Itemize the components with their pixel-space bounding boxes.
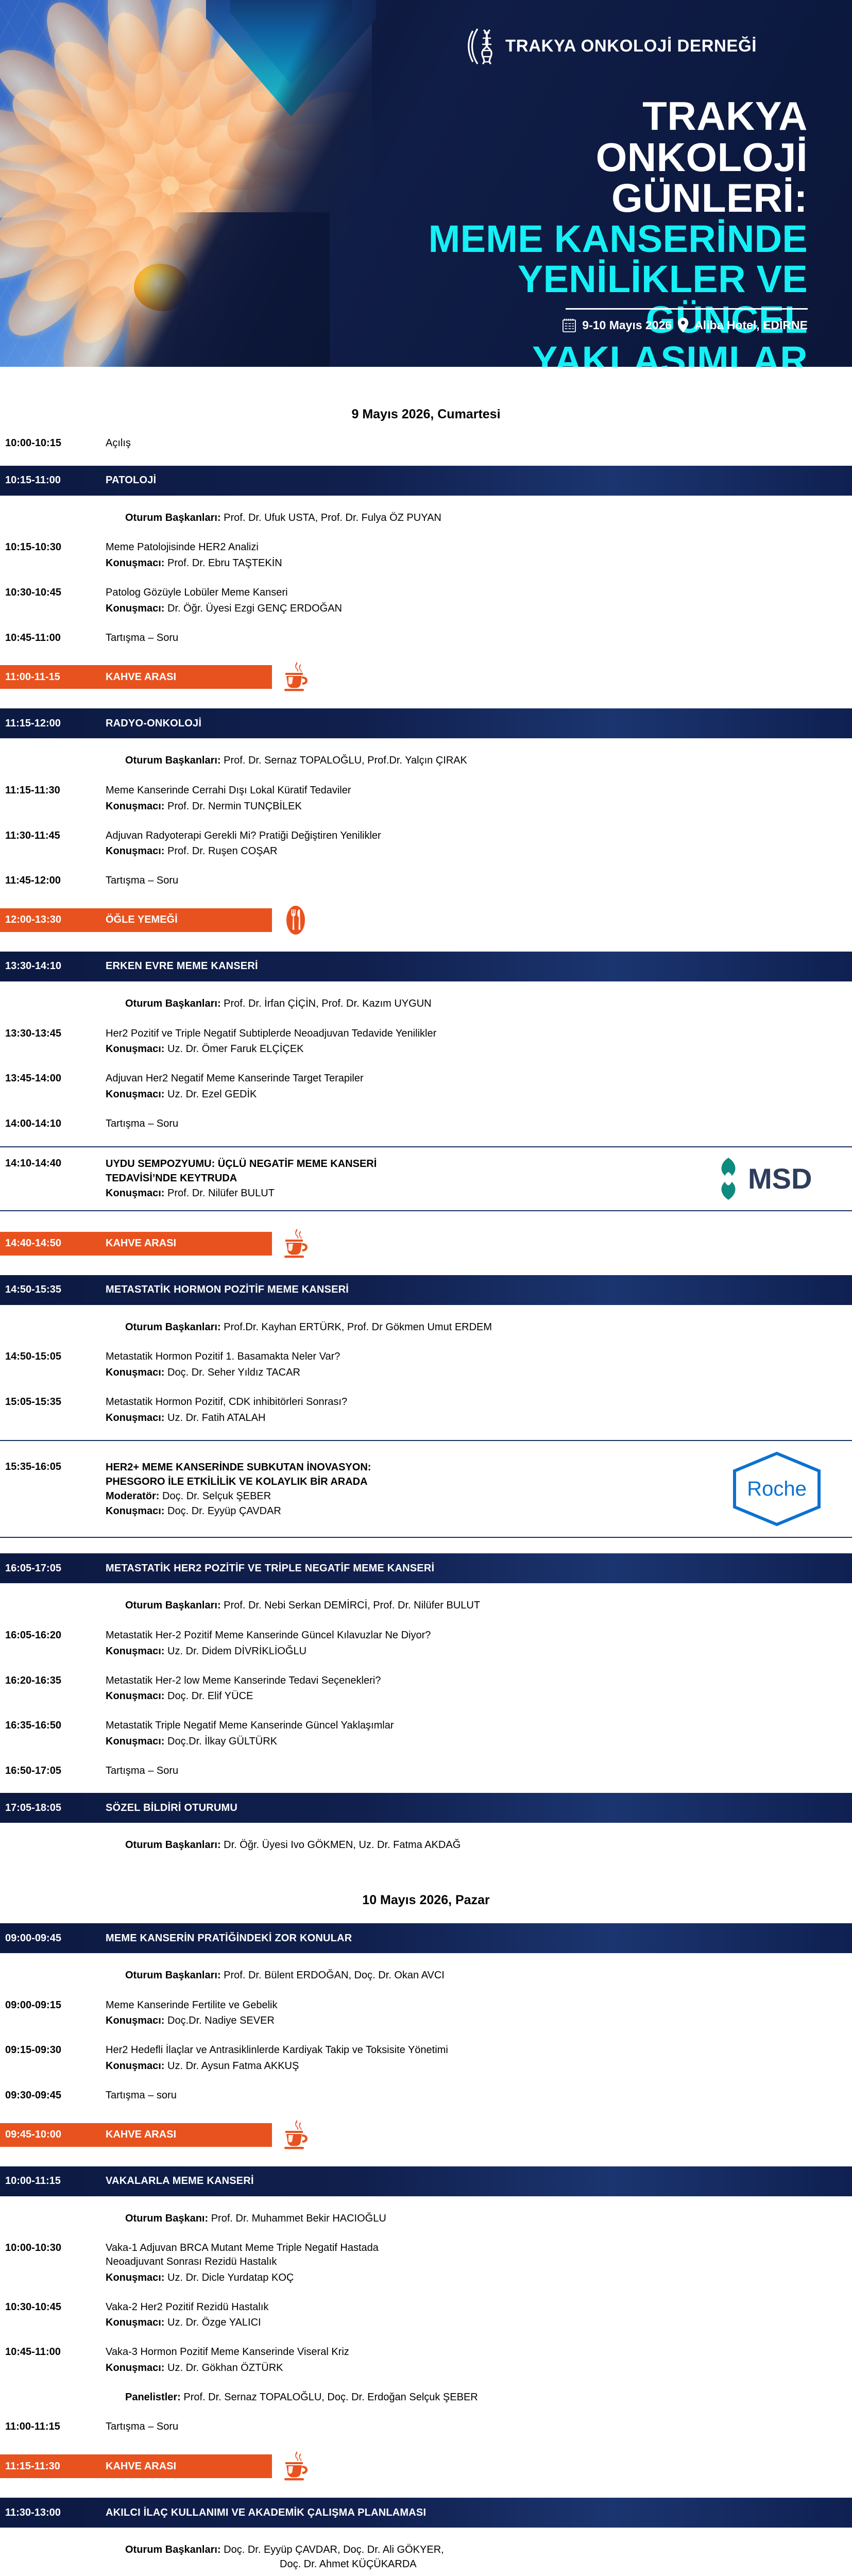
chairs-names: Prof. Dr. Ufuk USTA, Prof. Dr. Fulya ÖZ …: [224, 512, 441, 523]
session-name: PATOLOJİ: [106, 474, 156, 486]
event-venue: Aliba Hotel, EDİRNE: [694, 318, 808, 332]
time: 16:05-16:20: [0, 1629, 106, 1642]
chairs-label: Oturum Başkanları:: [125, 1839, 221, 1851]
topic: Metastatik Her-2 Pozitif Meme Kanserinde…: [106, 1629, 831, 1642]
break-bar-kahve-2: 14:40-14:50 KAHVE ARASI: [0, 1232, 272, 1256]
agenda-row: 11:45-12:00 Tartışma – Soru: [0, 874, 852, 888]
time: 10:30-10:45: [0, 2300, 106, 2314]
time: 14:50-15:05: [0, 1350, 106, 1364]
session-name: VAKALARLA MEME KANSERİ: [106, 2175, 254, 2187]
topic: Her2 Pozitif ve Triple Negatif Subtipler…: [106, 1027, 831, 1041]
session-name: SÖZEL BİLDİRİ OTURUMU: [106, 1802, 237, 1814]
time: 15:35-16:05: [0, 1460, 106, 1474]
role-label: Konuşmacı:: [106, 1505, 164, 1517]
session-header-zor-konular: 09:00-09:45 MEME KANSERİN PRATİĞİNDEKİ Z…: [0, 1923, 852, 1953]
session-chairs: Oturum Başkanları: Prof. Dr. Ufuk USTA, …: [0, 511, 852, 526]
title-line-4: YENİLİKLER VE: [391, 259, 808, 299]
speaker: Doç. Dr. Elif YÜCE: [167, 1690, 253, 1702]
speaker: Prof. Dr. Ruşen COŞAR: [167, 845, 277, 857]
session-header-patoloji: 10:15-11:00 PATOLOJİ: [0, 466, 852, 496]
agenda-row-opening: 10:00-10:15 Açılış: [0, 436, 852, 450]
chairs-names: Prof.Dr. Kayhan ERTÜRK, Prof. Dr Gökmen …: [224, 1321, 492, 1333]
speaker: Uz. Dr. Ömer Faruk ELÇİÇEK: [167, 1043, 304, 1055]
cutlery-icon: [281, 904, 310, 936]
speaker: Uz. Dr. Özge YALICI: [167, 2317, 261, 2328]
time: 10:45-11:00: [0, 2345, 106, 2359]
time: 16:35-16:50: [0, 1719, 106, 1733]
speaker: Prof. Dr. Nilüfer BULUT: [167, 1188, 275, 1199]
coffee-cup-icon: [281, 2450, 310, 2482]
msd-mark: [722, 1158, 736, 1200]
break-bar-kahve-4: 11:15-11:30 KAHVE ARASI: [0, 2454, 272, 2478]
session-header-vakalarla: 10:00-11:15 VAKALARLA MEME KANSERİ: [0, 2166, 852, 2196]
break-row: 14:40-14:50 KAHVE ARASI: [0, 1228, 852, 1260]
role-label: Konuşmacı:: [106, 801, 164, 812]
chairs-names-line-2: Doç. Dr. Ahmet KÜÇÜKARDA: [125, 2557, 852, 2572]
topic: Tartışma – Soru: [106, 631, 852, 645]
topic: Patolog Gözüyle Lobüler Meme Kanseri: [106, 586, 831, 600]
chairs-label: Oturum Başkanları:: [125, 998, 221, 1009]
time: 10:00-10:30: [0, 2241, 106, 2255]
session-panelists: Panelistler: Prof. Dr. Sernaz TOPALOĞLU,…: [0, 2391, 852, 2405]
chairs-label: Oturum Başkanları:: [125, 755, 221, 766]
role-label: Konuşmacı:: [106, 2060, 164, 2072]
break-time: 11:00-11-15: [0, 671, 106, 683]
speaker: Uz. Dr. Fatih ATALAH: [167, 1412, 265, 1423]
time: 14:10-14:40: [0, 1157, 106, 1171]
chairs-names: Prof. Dr. Sernaz TOPALOĞLU, Prof.Dr. Yal…: [224, 755, 467, 766]
role-label: Konuşmacı:: [106, 1089, 164, 1100]
speaker: Uz. Dr. Dicle Yurdatap KOÇ: [167, 2272, 294, 2283]
chairs-names: Prof. Dr. Nebi Serkan DEMİRCİ, Prof. Dr.…: [224, 1600, 480, 1611]
day2-title: 10 Mayıs 2026, Pazar: [0, 1893, 852, 1908]
banner-meta: 9-10 Mayıs 2026 Aliba Hotel, EDİRNE: [561, 317, 808, 333]
time: 10:00-10:15: [0, 436, 106, 450]
chairs-label: Oturum Başkanları:: [125, 1970, 221, 1981]
agenda-row: 10:00-10:30 Vaka-1 Adjuvan BRCA Mutant M…: [0, 2241, 852, 2284]
break-bar-kahve-3: 09:45-10:00 KAHVE ARASI: [0, 2123, 272, 2147]
speaker: Dr. Öğr. Üyesi Ezgi GENÇ ERDOĞAN: [167, 603, 342, 614]
chairs-names: Prof. Dr. Bülent ERDOĞAN, Doç. Dr. Okan …: [224, 1970, 445, 1981]
speaker: Doç.Dr. Nadiye SEVER: [167, 2015, 275, 2026]
session-time: 13:30-14:10: [0, 960, 106, 972]
role-label: Konuşmacı:: [106, 603, 164, 614]
session-chairs: Oturum Başkanları: Prof.Dr. Kayhan ERTÜR…: [0, 1320, 852, 1335]
symposium-title-line-2: PHESGORO İLE ETKİLİLİK VE KOLAYLIK BİR A…: [106, 1475, 371, 1489]
chairs-label: Oturum Başkanları:: [125, 2544, 221, 2555]
agenda-row: 13:30-13:45 Her2 Pozitif ve Triple Negat…: [0, 1027, 852, 1057]
role-label: Konuşmacı:: [106, 1188, 164, 1199]
location-pin-icon: [677, 317, 689, 333]
session-chairs: Oturum Başkanları: Prof. Dr. Nebi Serkan…: [0, 1599, 852, 1613]
break-time: 14:40-14:50: [0, 1238, 106, 1249]
break-time: 11:15-11:30: [0, 2461, 106, 2472]
role-label: Konuşmacı:: [106, 1690, 164, 1702]
role-label: Konuşmacı:: [106, 1412, 164, 1423]
session-time: 09:00-09:45: [0, 1933, 106, 1944]
session-name: ERKEN EVRE MEME KANSERİ: [106, 960, 258, 972]
calendar-icon: [561, 317, 577, 333]
speaker: Uz. Dr. Aysun Fatma AKKUŞ: [167, 2060, 299, 2072]
role-label: Konuşmacı:: [106, 2015, 164, 2026]
symposium-title-line-2: TEDAVİSİ’NDE KEYTRUDA: [106, 1171, 377, 1185]
session-header-metastatik-hormon: 14:50-15:35 METASTATİK HORMON POZİTİF ME…: [0, 1275, 852, 1305]
topic: Tartışma – Soru: [106, 874, 852, 888]
moderator: Doç. Dr. Selçuk ŞEBER: [162, 1490, 271, 1502]
time: 10:45-11:00: [0, 631, 106, 645]
session-chairs: Oturum Başkanları: Prof. Dr. Sernaz TOPA…: [0, 754, 852, 768]
session-name: METASTATİK HER2 POZİTİF VE TRİPLE NEGATİ…: [106, 1563, 434, 1574]
agenda-row: 09:15-09:30 Her2 Hedefli İlaçlar ve Antr…: [0, 2043, 852, 2073]
break-label: KAHVE ARASI: [106, 2461, 176, 2472]
session-header-erken-evre: 13:30-14:10 ERKEN EVRE MEME KANSERİ: [0, 952, 852, 981]
agenda-row: 11:30-11:45 Adjuvan Radyoterapi Gerekli …: [0, 829, 852, 859]
agenda-row: 14:00-14:10 Tartışma – Soru: [0, 1117, 852, 1131]
topic: Meme Kanserinde Fertilite ve Gebelik: [106, 1998, 831, 2012]
svg-text:MSD: MSD: [748, 1162, 812, 1195]
event-date: 9-10 Mayıs 2026: [582, 318, 672, 332]
time: 13:45-14:00: [0, 1072, 106, 1086]
moderator-label: Moderatör:: [106, 1490, 159, 1502]
session-time: 17:05-18:05: [0, 1802, 106, 1814]
session-time: 11:15-12:00: [0, 718, 106, 730]
coffee-cup-icon: [281, 1228, 310, 1260]
topic: Metastatik Triple Negatif Meme Kanserind…: [106, 1719, 831, 1733]
msd-logo: MSD: [698, 1157, 823, 1201]
break-label: ÖĞLE YEMEĞİ: [106, 914, 178, 926]
session-name: METASTATİK HORMON POZİTİF MEME KANSERİ: [106, 1284, 349, 1296]
session-name: MEME KANSERİN PRATİĞİNDEKİ ZOR KONULAR: [106, 1933, 352, 1944]
topic: Metastatik Hormon Pozitif 1. Basamakta N…: [106, 1350, 831, 1364]
topic: Tartışma – Soru: [106, 2420, 852, 2434]
chairs-label: Oturum Başkanları:: [125, 512, 221, 523]
session-header-sozel-bildiri: 17:05-18:05 SÖZEL BİLDİRİ OTURUMU: [0, 1793, 852, 1823]
dna-helix-icon: [466, 26, 498, 66]
agenda-row: 13:45-14:00 Adjuvan Her2 Negatif Meme Ka…: [0, 1072, 852, 1101]
event-banner: TRAKYA ONKOLOJİ DERNEĞİ TRAKYA ONKOLOJİ …: [0, 0, 852, 367]
time: 15:05-15:35: [0, 1395, 106, 1409]
topic: Adjuvan Her2 Negatif Meme Kanserinde Tar…: [106, 1072, 831, 1086]
speaker: Uz. Dr. Gökhan ÖZTÜRK: [167, 2362, 283, 2374]
session-time: 11:30-13:00: [0, 2507, 106, 2519]
break-time: 12:00-13:30: [0, 914, 106, 926]
role-label: Konuşmacı:: [106, 1043, 164, 1055]
break-row: 11:15-11:30 KAHVE ARASI: [0, 2450, 852, 2482]
topic: Her2 Hedefli İlaçlar ve Antrasiklinlerde…: [106, 2043, 831, 2057]
time: 10:30-10:45: [0, 586, 106, 600]
topic-continued: Neoadjuvant Sonrası Rezidü Hastalık: [106, 2255, 831, 2269]
chairs-label: Oturum Başkanları:: [125, 1600, 221, 1611]
session-header-radyo-onkoloji: 11:15-12:00 RADYO-ONKOLOJİ: [0, 708, 852, 738]
program-schedule: 9 Mayıs 2026, Cumartesi 10:00-10:15 Açıl…: [0, 407, 852, 2576]
coffee-cup-icon: [281, 661, 310, 693]
role-label: Konuşmacı:: [106, 1367, 164, 1378]
agenda-row: 16:05-16:20 Metastatik Her-2 Pozitif Mem…: [0, 1629, 852, 1658]
chairs-label: Oturum Başkanları:: [125, 1321, 221, 1333]
break-row: 12:00-13:30 ÖĞLE YEMEĞİ: [0, 904, 852, 936]
topic: Adjuvan Radyoterapi Gerekli Mi? Pratiği …: [106, 829, 831, 843]
topic: Tartışma – soru: [106, 2089, 852, 2103]
session-chairs: Oturum Başkanları: Prof. Dr. İrfan ÇİÇİN…: [0, 997, 852, 1011]
symposium-title-line-1: HER2+ MEME KANSERİNDE SUBKUTAN İNOVASYON…: [106, 1460, 371, 1475]
chairs-names: Prof. Dr. İrfan ÇİÇİN, Prof. Dr. Kazım U…: [224, 998, 431, 1009]
day1-title: 9 Mayıs 2026, Cumartesi: [0, 407, 852, 422]
time: 11:45-12:00: [0, 874, 106, 888]
session-header-akilci-ilac: 11:30-13:00 AKILCI İLAÇ KULLANIMI VE AKA…: [0, 2498, 852, 2528]
agenda-row: 10:15-10:30 Meme Patolojisinde HER2 Anal…: [0, 540, 852, 570]
navy-overlay-lower: [0, 212, 330, 367]
title-line-3: MEME KANSERİNDE: [391, 219, 808, 259]
time: 16:50-17:05: [0, 1764, 106, 1778]
agenda-row: 09:00-09:15 Meme Kanserinde Fertilite ve…: [0, 1998, 852, 2028]
association-logo: TRAKYA ONKOLOJİ DERNEĞİ: [466, 26, 757, 66]
agenda-row: 10:30-10:45 Patolog Gözüyle Lobüler Meme…: [0, 586, 852, 616]
role-label: Konuşmacı:: [106, 845, 164, 857]
session-time: 16:05-17:05: [0, 1563, 106, 1574]
session-header-metastatik-her2: 16:05-17:05 METASTATİK HER2 POZİTİF VE T…: [0, 1553, 852, 1583]
speaker: Prof. Dr. Nermin TUNÇBİLEK: [167, 801, 302, 812]
break-row: 11:00-11-15 KAHVE ARASI: [0, 661, 852, 693]
session-name: AKILCI İLAÇ KULLANIMI VE AKADEMİK ÇALIŞM…: [106, 2507, 426, 2519]
session-chairs: Oturum Başkanları: Doç. Dr. Eyyüp ÇAVDAR…: [0, 2543, 852, 2571]
session-time: 10:15-11:00: [0, 474, 106, 486]
speaker: Uz. Dr. Ezel GEDİK: [167, 1089, 257, 1100]
session-time: 10:00-11:15: [0, 2175, 106, 2187]
time: 11:00-11:15: [0, 2420, 106, 2434]
session-time: 14:50-15:35: [0, 1284, 106, 1296]
svg-text:Roche: Roche: [747, 1478, 807, 1500]
agenda-row: 09:30-09:45 Tartışma – soru: [0, 2089, 852, 2103]
association-name: TRAKYA ONKOLOJİ DERNEĞİ: [505, 36, 757, 56]
break-label: KAHVE ARASI: [106, 2129, 176, 2141]
role-label: Konuşmacı:: [106, 1646, 164, 1657]
topic: Tartışma – Soru: [106, 1764, 852, 1778]
satellite-symposium-msd: 14:10-14:40 UYDU SEMPOZYUMU: ÜÇLÜ NEGATİ…: [0, 1146, 852, 1211]
agenda-row: 11:00-11:15 Tartışma – Soru: [0, 2420, 852, 2434]
agenda-row: 10:45-11:00 Vaka-3 Hormon Pozitif Meme K…: [0, 2345, 852, 2375]
time: 16:20-16:35: [0, 1674, 106, 1688]
speaker: Doç. Dr. Seher Yıldız TACAR: [167, 1367, 300, 1378]
agenda-row: 15:05-15:35 Metastatik Hormon Pozitif, C…: [0, 1395, 852, 1425]
topic: Açılış: [106, 436, 852, 450]
role-label: Konuşmacı:: [106, 1736, 164, 1747]
break-label: KAHVE ARASI: [106, 1238, 176, 1249]
topic: Tartışma – Soru: [106, 1117, 852, 1131]
session-chairs: Oturum Başkanı: Prof. Dr. Muhammet Bekir…: [0, 2212, 852, 2226]
topic: Metastatik Her-2 low Meme Kanserinde Ted…: [106, 1674, 831, 1688]
topic: Vaka-2 Her2 Pozitif Rezidü Hastalık: [106, 2300, 831, 2314]
role-label: Konuşmacı:: [106, 2362, 164, 2374]
session-name: RADYO-ONKOLOJİ: [106, 718, 201, 730]
topic: Meme Kanserinde Cerrahi Dışı Lokal Kürat…: [106, 784, 831, 798]
time: 13:30-13:45: [0, 1027, 106, 1041]
panelists-label: Panelistler:: [125, 2392, 181, 2403]
chairs-names: Dr. Öğr. Üyesi Ivo GÖKMEN, Uz. Dr. Fatma…: [224, 1839, 461, 1851]
chairs-names: Prof. Dr. Muhammet Bekir HACIOĞLU: [211, 2213, 386, 2224]
break-bar-ogle-yemegi: 12:00-13:30 ÖĞLE YEMEĞİ: [0, 908, 272, 932]
break-time: 09:45-10:00: [0, 2129, 106, 2141]
time: 09:00-09:15: [0, 1998, 106, 2012]
topic: Vaka-3 Hormon Pozitif Meme Kanserinde Vi…: [106, 2345, 831, 2359]
speaker: Uz. Dr. Didem DİVRİKLİOĞLU: [167, 1646, 306, 1657]
agenda-row: 14:50-15:05 Metastatik Hormon Pozitif 1.…: [0, 1350, 852, 1380]
topic: Metastatik Hormon Pozitif, CDK inhibitör…: [106, 1395, 831, 1409]
chairs-label: Oturum Başkanı:: [125, 2213, 208, 2224]
agenda-row: 10:30-10:45 Vaka-2 Her2 Pozitif Rezidü H…: [0, 2300, 852, 2330]
agenda-row: 11:15-11:30 Meme Kanserinde Cerrahi Dışı…: [0, 784, 852, 814]
symposium-title-line-1: UYDU SEMPOZYUMU: ÜÇLÜ NEGATİF MEME KANSE…: [106, 1157, 377, 1171]
session-chairs: Oturum Başkanları: Prof. Dr. Bülent ERDO…: [0, 1969, 852, 1983]
session-chairs: Oturum Başkanları: Dr. Öğr. Üyesi Ivo GÖ…: [0, 1838, 852, 1853]
break-row: 09:45-10:00 KAHVE ARASI: [0, 2119, 852, 2151]
agenda-row: 16:35-16:50 Metastatik Triple Negatif Me…: [0, 1719, 852, 1749]
speaker: Doç. Dr. Eyyüp ÇAVDAR: [167, 1505, 281, 1517]
speaker: Prof. Dr. Ebru TAŞTEKİN: [167, 557, 282, 569]
time: 11:15-11:30: [0, 784, 106, 798]
role-label: Konuşmacı:: [106, 2317, 164, 2328]
topic: Meme Patolojisinde HER2 Analizi: [106, 540, 831, 554]
agenda-row: 10:45-11:00 Tartışma – Soru: [0, 631, 852, 645]
chairs-names-line-1: Doç. Dr. Eyyüp ÇAVDAR, Doç. Dr. Ali GÖKY…: [224, 2544, 444, 2555]
title-line-1: TRAKYA: [391, 96, 808, 137]
satellite-symposium-roche: 15:35-16:05 HER2+ MEME KANSERİNDE SUBKUT…: [0, 1440, 852, 1538]
time: 11:30-11:45: [0, 829, 106, 843]
time: 14:00-14:10: [0, 1117, 106, 1131]
time: 09:15-09:30: [0, 2043, 106, 2057]
break-label: KAHVE ARASI: [106, 671, 176, 683]
topic: Vaka-1 Adjuvan BRCA Mutant Meme Triple N…: [106, 2241, 831, 2255]
role-label: Konuşmacı:: [106, 557, 164, 569]
title-line-2: ONKOLOJİ GÜNLERİ:: [391, 137, 808, 219]
role-label: Konuşmacı:: [106, 2272, 164, 2283]
break-bar-kahve-1: 11:00-11-15 KAHVE ARASI: [0, 665, 272, 689]
speaker: Doç.Dr. İlkay GÜLTÜRK: [167, 1736, 277, 1747]
panelists-names: Prof. Dr. Sernaz TOPALOĞLU, Doç. Dr. Erd…: [183, 2392, 478, 2403]
agenda-row: 16:50-17:05 Tartışma – Soru: [0, 1764, 852, 1778]
coffee-cup-icon: [281, 2119, 310, 2151]
roche-logo: Roche: [718, 1450, 823, 1528]
agenda-row: 16:20-16:35 Metastatik Her-2 low Meme Ka…: [0, 1674, 852, 1704]
time: 09:30-09:45: [0, 2089, 106, 2103]
banner-divider: [566, 308, 808, 310]
time: 10:15-10:30: [0, 540, 106, 554]
